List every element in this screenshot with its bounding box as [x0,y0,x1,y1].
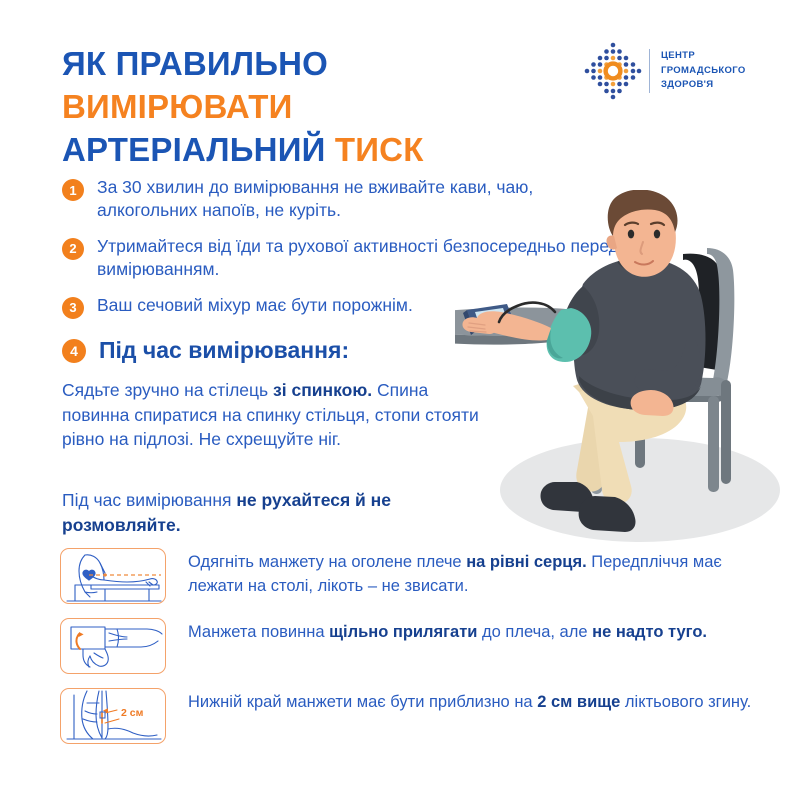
tip-icon-box-3: 2 см [60,688,166,744]
tip-item-3: 2 см Нижній край манжети має бути прибли… [60,688,780,744]
step-badge-4: 4 [62,339,86,363]
logo-divider [649,49,650,93]
tip-item-1: Одягніть манжету на оголене плече на рів… [60,548,780,604]
tip2-part-b: щільно прилягати [329,623,477,641]
tip-icon-box-1 [60,548,166,604]
step-badge-3: 3 [62,297,84,319]
tip1-part-b: на рівні серця. [466,553,586,571]
tip2-part-c: до плеча, але [477,623,592,641]
tip-icon-box-2 [60,618,166,674]
tip3-measure-label: 2 см [121,707,144,719]
logo: ЦЕНТР ГРОМАДСЬКОГО ЗДОРОВ'Я [582,40,762,102]
tip-text-2: Манжета повинна щільно прилягати до плеч… [188,618,707,645]
title-line-2: ВИМІРЮВАТИ [62,85,424,128]
title-line-3: АРТЕРІАЛЬНИЙ ТИСК [62,128,424,171]
infographic-page: ЯК ПРАВИЛЬНО ВИМІРЮВАТИ АРТЕРІАЛЬНИЙ ТИС… [0,0,800,800]
step-text-4: Під час вимірювання: [99,337,349,365]
tip2-part-d: не надто туго. [592,623,707,641]
logo-text-line-2: ГРОМАДСЬКОГО [661,64,746,79]
para2-part-a: Під час вимірювання [62,490,236,510]
para1-part-b: зі спинкою. [273,380,372,400]
tip3-part-b: 2 см вище [537,693,620,711]
step-badge-2: 2 [62,238,84,260]
tip-text-1: Одягніть манжету на оголене плече на рів… [188,548,780,599]
logo-dots-icon [582,40,644,102]
tips-list: Одягніть манжету на оголене плече на рів… [60,548,780,758]
title-line-3a: АРТЕРІАЛЬНИЙ [62,131,335,168]
cuff-tightness-icon [61,619,164,672]
illustration-man-measuring-blood-pressure [455,190,800,550]
tip1-part-a: Одягніть манжету на оголене плече [188,553,466,571]
title-line-1: ЯК ПРАВИЛЬНО [62,42,424,85]
header: ЯК ПРАВИЛЬНО ВИМІРЮВАТИ АРТЕРІАЛЬНИЙ ТИС… [0,0,800,170]
arm-on-table-heart-level-icon [61,549,164,602]
tip2-part-a: Манжета повинна [188,623,329,641]
page-title: ЯК ПРАВИЛЬНО ВИМІРЮВАТИ АРТЕРІАЛЬНИЙ ТИС… [62,42,424,172]
tip-text-3: Нижній край манжети має бути приблизно н… [188,688,751,715]
cuff-distance-elbow-icon: 2 см [61,689,164,742]
step-badge-1: 1 [62,179,84,201]
title-line-3b: ТИСК [335,131,424,168]
logo-text: ЦЕНТР ГРОМАДСЬКОГО ЗДОРОВ'Я [661,49,746,93]
step-text-3: Ваш сечовий міхур має бути порожнім. [97,294,413,317]
paragraph-sitting-posture: Сядьте зручно на стілець зі спинкою. Спи… [62,378,482,452]
logo-text-line-1: ЦЕНТР [661,49,746,64]
paragraph-stay-still: Під час вимірювання не рухайтеся й не ро… [62,488,482,537]
tip-item-2: Манжета повинна щільно прилягати до плеч… [60,618,780,674]
tip3-part-c: лiктьового згину. [620,693,751,711]
logo-text-line-3: ЗДОРОВ'Я [661,78,746,93]
tip3-part-a: Нижній край манжети має бути приблизно н… [188,693,537,711]
para1-part-a: Сядьте зручно на стілець [62,380,273,400]
